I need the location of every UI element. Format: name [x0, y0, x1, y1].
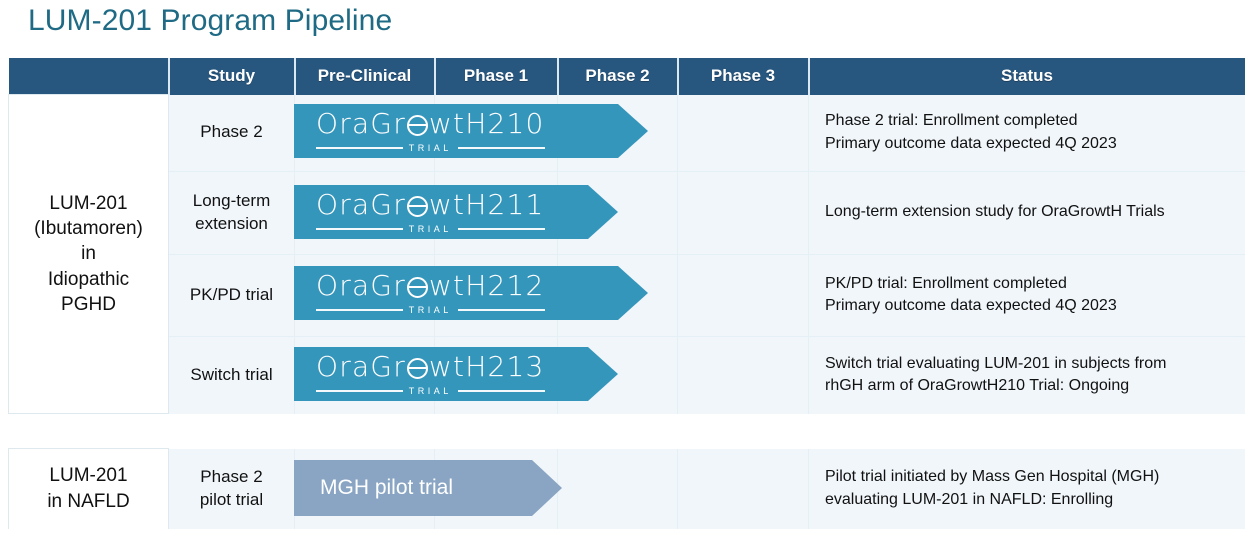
status-cell: PK/PD trial: Enrollment completed Primar…	[809, 254, 1245, 336]
status-line: evaluating LUM-201 in NAFLD: Enrolling	[825, 489, 1245, 511]
phase-cell-phase3	[678, 95, 809, 172]
study-cell: Phase 2	[169, 95, 295, 172]
phase-cell-preclinical	[295, 95, 435, 172]
column-header-blank	[9, 58, 169, 95]
study-cell: PK/PD trial	[169, 254, 295, 336]
study-label: extension	[195, 214, 268, 233]
status-line: Primary outcome data expected 4Q 2023	[825, 295, 1245, 317]
phase-cell-phase2	[558, 254, 678, 336]
study-cell: Long-term extension	[169, 171, 295, 254]
phase-cell-preclinical	[295, 171, 435, 254]
status-cell: Long-term extension study for OraGrowtH …	[809, 171, 1245, 254]
status-line: Primary outcome data expected 4Q 2023	[825, 133, 1245, 155]
status-line: Long-term extension study for OraGrowtH …	[825, 201, 1245, 223]
table-row: Long-term extension Long-term extension …	[9, 171, 1245, 254]
table-row: PK/PD trial PK/PD trial: Enrollment comp…	[9, 254, 1245, 336]
phase-cell-phase3	[678, 254, 809, 336]
study-label: Phase 2	[200, 122, 262, 141]
phase-cell-phase2	[558, 449, 678, 529]
indication-line: Idiopathic	[48, 269, 129, 290]
pipeline-table-nafld: LUM-201 in NAFLD Phase 2 pilot trial Pil…	[8, 448, 1245, 529]
indication-line: LUM-201	[49, 193, 127, 214]
study-cell: Phase 2 pilot trial	[169, 449, 295, 529]
table-header-row: Study Pre-Clinical Phase 1 Phase 2 Phase…	[9, 58, 1245, 95]
study-label: PK/PD trial	[190, 285, 273, 304]
phase-cell-phase1	[435, 95, 558, 172]
study-label: Phase 2	[200, 467, 262, 486]
phase-cell-phase1	[435, 449, 558, 529]
indication-line: LUM-201	[49, 465, 127, 486]
indication-line: (Ibutamoren)	[34, 218, 143, 239]
study-label: Switch trial	[190, 365, 272, 384]
status-line: Switch trial evaluating LUM-201 in subje…	[825, 353, 1245, 375]
study-label: Long-term	[193, 191, 270, 210]
indication-line: PGHD	[61, 294, 116, 315]
status-line: rhGH arm of OraGrowtH210 Trial: Ongoing	[825, 375, 1245, 397]
indication-cell-nafld: LUM-201 in NAFLD	[9, 449, 169, 529]
table-row: Switch trial Switch trial evaluating LUM…	[9, 336, 1245, 414]
status-line: Pilot trial initiated by Mass Gen Hospit…	[825, 466, 1245, 488]
status-cell: Phase 2 trial: Enrollment completed Prim…	[809, 95, 1245, 172]
phase-cell-phase2	[558, 336, 678, 414]
status-cell: Pilot trial initiated by Mass Gen Hospit…	[809, 449, 1245, 529]
phase-cell-preclinical	[295, 336, 435, 414]
phase-cell-phase3	[678, 336, 809, 414]
phase-cell-phase2	[558, 171, 678, 254]
status-cell: Switch trial evaluating LUM-201 in subje…	[809, 336, 1245, 414]
column-header-status: Status	[809, 58, 1245, 95]
phase-cell-phase2	[558, 95, 678, 172]
status-line: PK/PD trial: Enrollment completed	[825, 273, 1245, 295]
column-header-phase2: Phase 2	[558, 58, 678, 95]
phase-cell-phase1	[435, 254, 558, 336]
pipeline-table-pghd: Study Pre-Clinical Phase 1 Phase 2 Phase…	[8, 58, 1245, 414]
phase-cell-preclinical	[295, 254, 435, 336]
phase-cell-phase3	[678, 449, 809, 529]
page-title: LUM-201 Program Pipeline	[28, 4, 392, 38]
study-label: pilot trial	[200, 490, 263, 509]
phase-cell-preclinical	[295, 449, 435, 529]
column-header-preclinical: Pre-Clinical	[295, 58, 435, 95]
indication-cell-pghd: LUM-201 (Ibutamoren) in Idiopathic PGHD	[9, 95, 169, 414]
column-header-study: Study	[169, 58, 295, 95]
phase-cell-phase3	[678, 171, 809, 254]
table-row: LUM-201 in NAFLD Phase 2 pilot trial Pil…	[9, 449, 1245, 529]
column-header-phase1: Phase 1	[435, 58, 558, 95]
phase-cell-phase1	[435, 336, 558, 414]
column-header-phase3: Phase 3	[678, 58, 809, 95]
study-cell: Switch trial	[169, 336, 295, 414]
indication-line: in	[81, 243, 96, 264]
status-line: Phase 2 trial: Enrollment completed	[825, 110, 1245, 132]
table-row: LUM-201 (Ibutamoren) in Idiopathic PGHD …	[9, 95, 1245, 172]
indication-line: in NAFLD	[47, 491, 129, 512]
phase-cell-phase1	[435, 171, 558, 254]
